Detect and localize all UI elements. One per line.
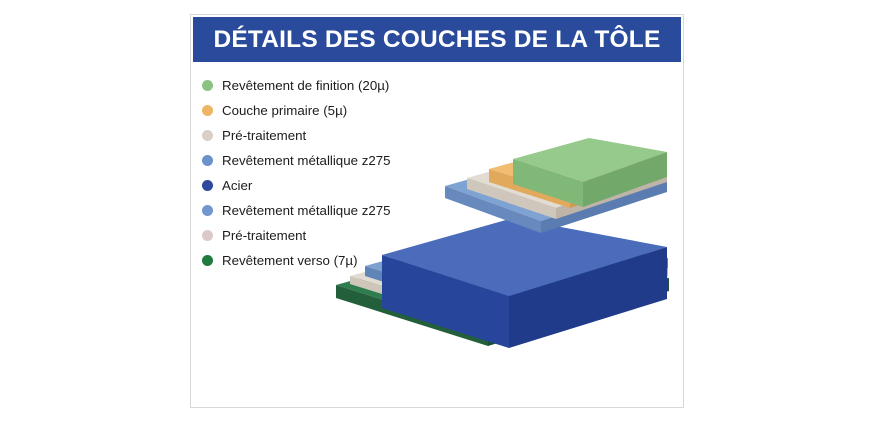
- legend-item-revetement-de-finition: Revêtement de finition (20µ): [202, 73, 502, 98]
- page-title: DÉTAILS DES COUCHES DE LA TÔLE: [213, 26, 660, 54]
- sheet-metal-layer-stack-diagram: [191, 135, 683, 407]
- layer-details-card: DÉTAILS DES COUCHES DE LA TÔLE Revêtemen…: [190, 14, 684, 408]
- legend-item-label: Couche primaire (5µ): [222, 103, 347, 118]
- layer-acier: [382, 218, 667, 348]
- legend-item-label: Revêtement de finition (20µ): [222, 78, 389, 93]
- legend-item-couche-primaire: Couche primaire (5µ): [202, 98, 502, 123]
- card-header: DÉTAILS DES COUCHES DE LA TÔLE: [193, 17, 681, 62]
- legend-swatch-icon: [202, 105, 213, 116]
- legend-swatch-icon: [202, 80, 213, 91]
